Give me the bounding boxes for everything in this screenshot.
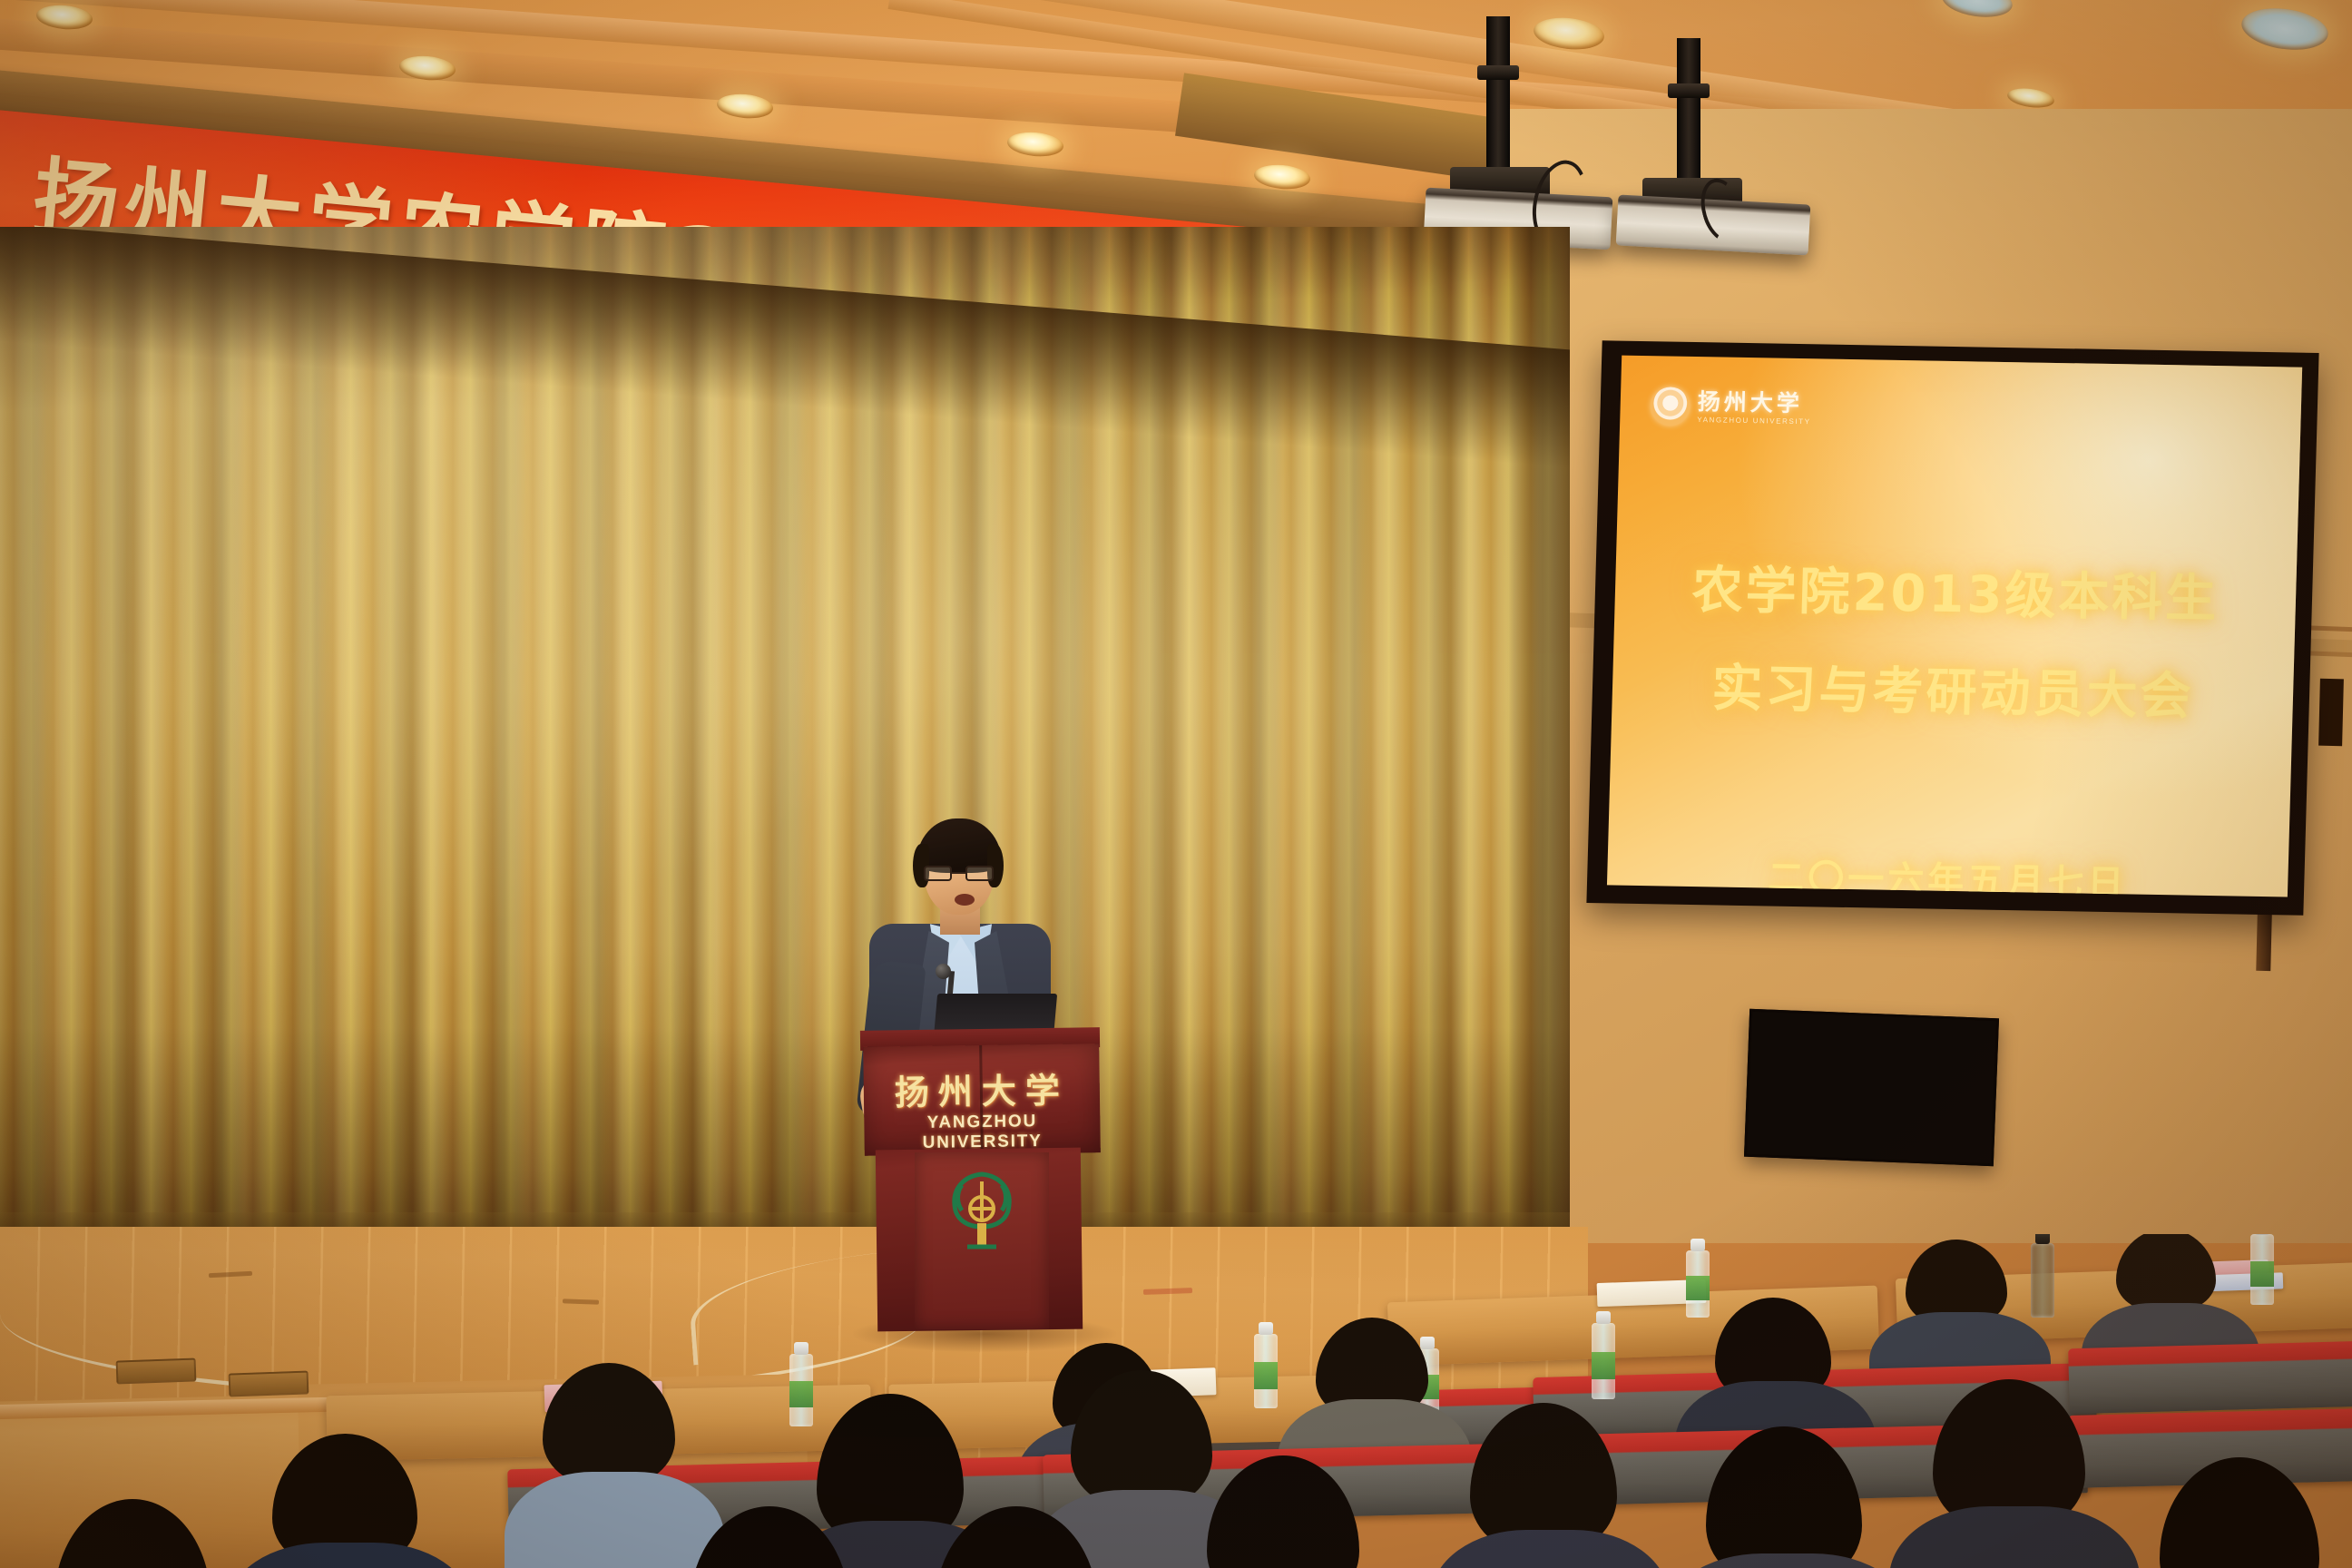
audience-shoulders [1430,1530,1670,1568]
logo-text-en: YANGZHOU UNIVERSITY [1697,416,1811,426]
audience-head [2116,1234,2216,1312]
water-bottle [2250,1234,2274,1305]
wall-recess [2318,679,2344,747]
audience-shoulders [1661,1553,1915,1568]
slide-title-line-1: 农学院2013级本科生 [1614,548,2297,633]
projector-pole-collar [1668,83,1710,98]
projection-screen: 扬州大学 YANGZHOU UNIVERSITY 农学院2013级本科生 实习与… [1607,356,2302,897]
auditorium-photo: 扬州大学农学院2013级本科生实习与考研动员大会 扬州大学 YANGZHOU U… [0,0,2352,1568]
projector-mount-pole [1486,16,1510,178]
projector-mount-pole [1677,38,1700,189]
projector-pole-collar [1477,65,1519,80]
tv-screen [1747,1012,1996,1163]
water-bottle [789,1354,813,1426]
speaker-glasses-icon [922,866,996,882]
microphone-head-icon [936,964,951,979]
stage-curtain [0,227,1570,1252]
podium-name-cn: 扬州大学 [863,1062,1100,1115]
university-emblem-icon [1651,387,1690,426]
audience-shoulders [227,1543,472,1568]
water-bottle [1592,1323,1615,1399]
audience-shoulders [1889,1506,2140,1568]
curtain-edge-shadow [1506,227,1570,1252]
logo-text-cn: 扬州大学 [1698,390,1812,415]
audience-shoulders [505,1472,724,1568]
speaker-mouth [955,894,975,906]
water-bottle [2031,1243,2054,1318]
seat-row[interactable] [2068,1341,2352,1415]
audience-head [54,1499,211,1568]
water-bottle [1254,1334,1278,1408]
glasses-bridge [952,872,965,874]
audience-area [0,1234,2352,1568]
wall-mounted-tv [1744,1009,1999,1166]
podium-front-panel: 扬州大学 YANGZHOU UNIVERSITY [863,1044,1101,1156]
slide-title-line-2: 实习与考研动员大会 [1612,645,2294,730]
university-logo: 扬州大学 YANGZHOU UNIVERSITY [1651,387,1812,427]
projection-screen-frame: 扬州大学 YANGZHOU UNIVERSITY 农学院2013级本科生 实习与… [1586,340,2318,916]
slide-date: 二〇一六年五月七日 [1607,845,2288,897]
glasses-lens [924,866,952,881]
glasses-lens [965,866,994,881]
water-bottle [1686,1250,1710,1318]
